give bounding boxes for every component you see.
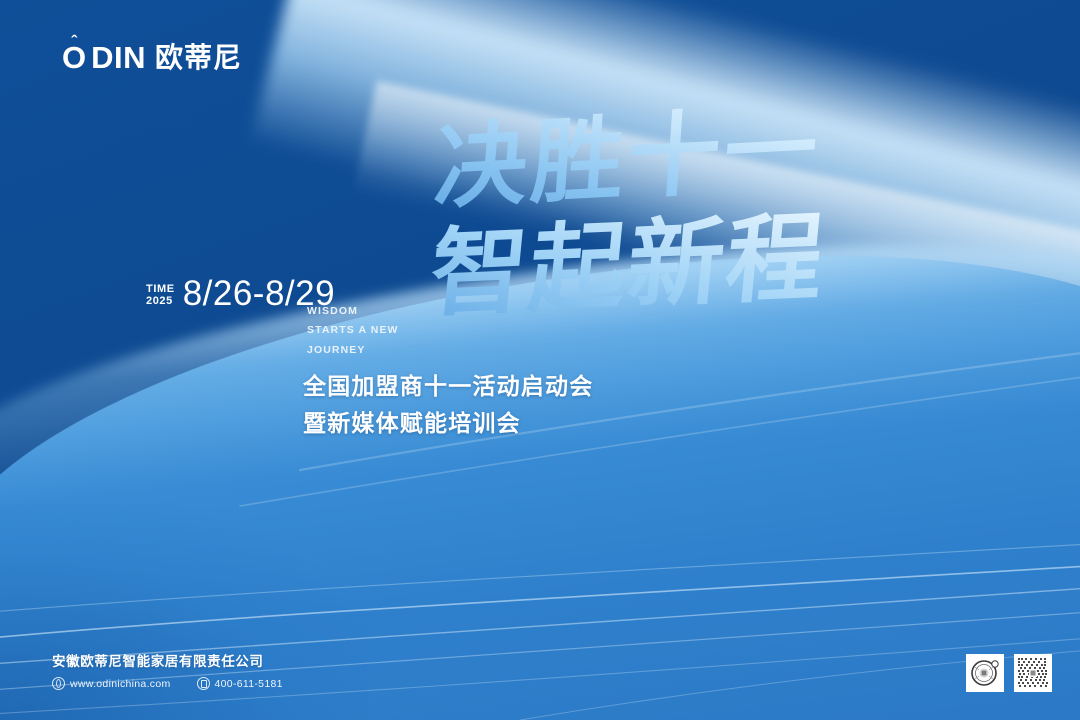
footer-company-name: 安徽欧蒂尼智能家居有限责任公司: [52, 650, 283, 670]
footer-website[interactable]: www.odinichina.com: [52, 677, 171, 690]
tagline-line-3: JOURNEY: [307, 341, 399, 360]
headline-calligraphy: 决胜十一 智起新程: [440, 112, 910, 347]
mini-program-qr[interactable]: [1014, 654, 1052, 692]
qr-code-group: [966, 654, 1052, 692]
mini-program-qr-icon: [1017, 657, 1049, 689]
globe-icon: [52, 677, 65, 690]
subtitle-line-2: 暨新媒体赋能培训会: [303, 405, 593, 442]
wechat-official-qr[interactable]: [966, 654, 1004, 692]
footer-block: 安徽欧蒂尼智能家居有限责任公司 www.odinichina.com 400-6…: [52, 650, 283, 690]
footer-contacts: www.odinichina.com 400-611-5181: [52, 677, 283, 690]
logo-letter-o: ˆ O: [62, 42, 86, 73]
wechat-official-qr-icon: [969, 657, 1001, 689]
tagline-line-2: STARTS A NEW: [307, 321, 399, 340]
headline-svg: 决胜十一 智起新程: [440, 112, 910, 347]
english-tagline: WISDOM STARTS A NEW JOURNEY: [307, 302, 399, 360]
subtitle-line-1: 全国加盟商十一活动启动会: [303, 368, 593, 405]
footer-website-text: www.odinichina.com: [70, 678, 171, 690]
logo-wordmark-chinese: 欧蒂尼: [155, 44, 242, 72]
brand-logo: ˆ O DIN 欧蒂尼: [62, 42, 242, 73]
phone-icon: [197, 677, 210, 690]
headline-line-2: 智起新程: [425, 200, 830, 330]
logo-circumflex-icon: ˆ: [71, 33, 77, 50]
time-label-year: 2025: [146, 295, 175, 307]
logo-wordmark-latin: DIN: [91, 42, 146, 73]
time-label-word: TIME: [146, 283, 175, 295]
tagline-line-1: WISDOM: [307, 302, 399, 321]
footer-phone[interactable]: 400-611-5181: [197, 677, 283, 690]
event-subtitle: 全国加盟商十一活动启动会 暨新媒体赋能培训会: [303, 368, 593, 443]
poster-canvas: ˆ O DIN 欧蒂尼 决胜十一 智起新程: [0, 0, 1080, 720]
time-label: TIME 2025: [146, 280, 175, 308]
footer-phone-text: 400-611-5181: [215, 678, 283, 690]
